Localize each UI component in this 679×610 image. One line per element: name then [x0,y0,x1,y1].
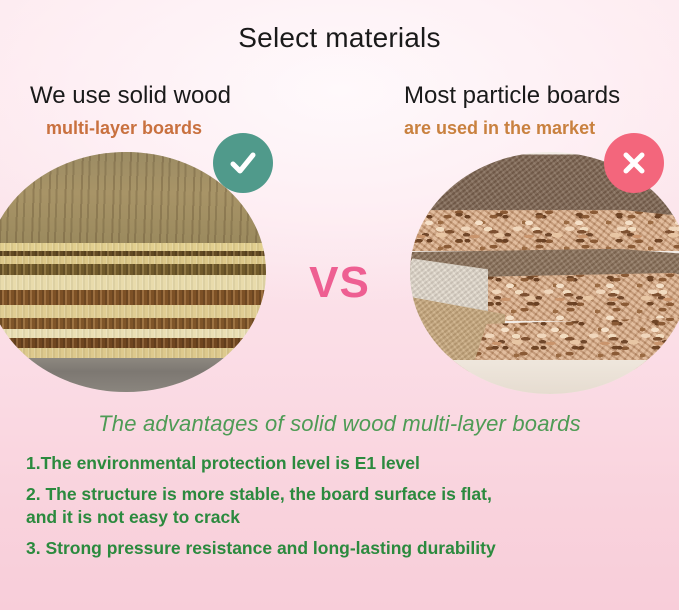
page-title: Select materials [0,22,679,54]
list-item: 3. Strong pressure resistance and long-l… [26,537,666,559]
check-icon [213,133,273,193]
left-heading: We use solid wood [30,82,231,110]
plywood-base-shadow [0,358,266,392]
right-heading: Most particle boards [404,82,620,110]
right-subheading: are used in the market [404,118,595,139]
advantages-list: 1.The environmental protection level is … [26,452,666,569]
pb-chip-layer [410,210,679,251]
ply-layer [0,243,266,251]
cross-icon [604,133,664,193]
ply-layer [0,348,266,358]
material-comparison-poster: Select materials We use solid wood multi… [0,0,679,610]
advantages-title: The advantages of solid wood multi-layer… [0,411,679,437]
list-item: 1.The environmental protection level is … [26,452,666,474]
left-subheading: multi-layer boards [46,118,202,139]
pb-base-surface [410,360,679,394]
ply-layer [0,329,266,338]
list-item: 2. The structure is more stable, the boa… [26,483,666,528]
ply-layer [0,318,266,330]
ply-layer [0,338,266,349]
versus-label: VS [0,258,679,308]
